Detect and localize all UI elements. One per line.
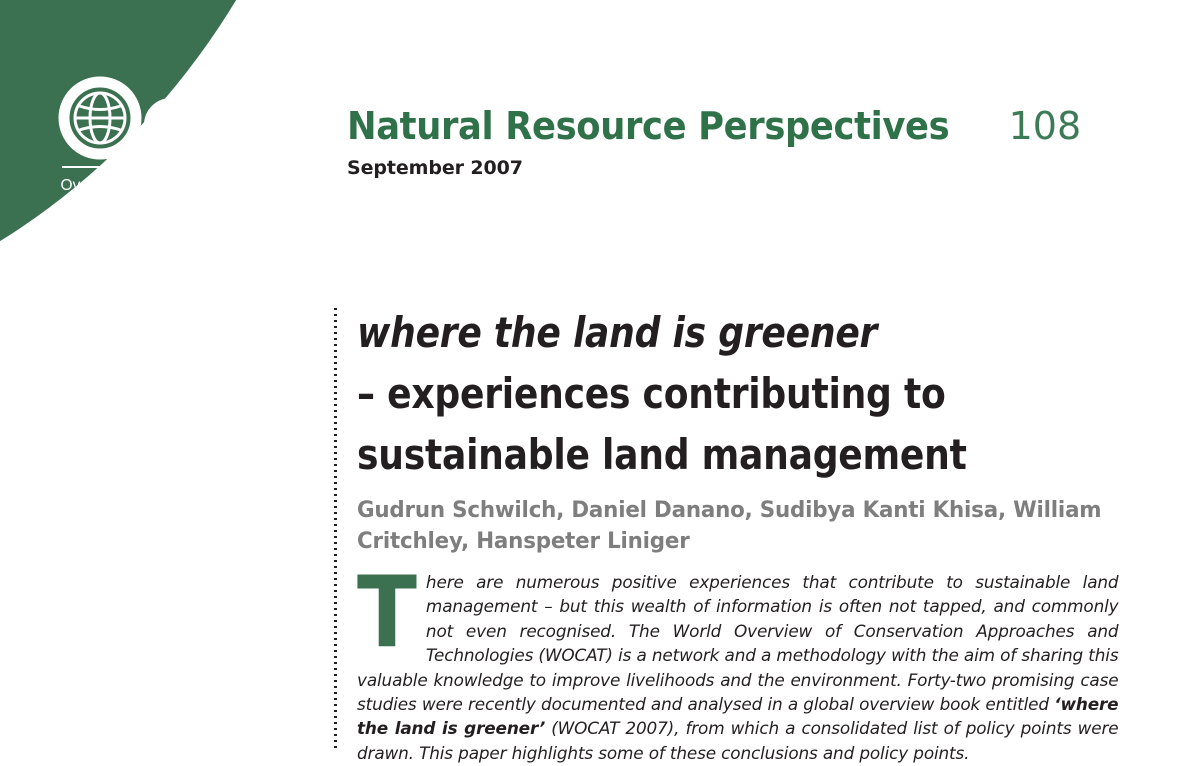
globe-icon	[58, 76, 142, 160]
logo-caption-line-1: Overseas Development	[55, 176, 230, 196]
letter-i-stem	[217, 107, 228, 152]
paper-title-line-1: where the land is greener	[357, 302, 1135, 363]
author-list: Gudrun Schwilch, Daniel Danano, Sudibya …	[357, 495, 1135, 557]
abstract-text-part-1: here are numerous positive experiences t…	[357, 573, 1118, 715]
letter-d-stem	[198, 82, 209, 152]
publication-date: September 2007	[347, 157, 1147, 179]
odi-logo: Overseas Development Institute	[55, 74, 230, 216]
letter-i-dot	[217, 88, 228, 99]
logo-caption: Overseas Development Institute	[55, 176, 230, 216]
odi-letters-di	[144, 74, 228, 160]
drop-cap-letter: T	[357, 575, 417, 651]
article-block: where the land is greener – experiences …	[357, 302, 1137, 766]
letter-d-bowl	[144, 98, 198, 152]
paper-title: where the land is greener – experiences …	[357, 302, 1135, 485]
issue-number: 108	[1009, 104, 1082, 148]
odi-wordmark	[55, 74, 230, 160]
paper-title-line-2: – experiences contributing to	[357, 363, 1135, 424]
logo-divider-rule	[62, 166, 224, 168]
abstract-paragraph: There are numerous positive experiences …	[357, 571, 1118, 766]
dotted-vertical-rule	[334, 308, 337, 751]
logo-caption-line-2: Institute	[55, 196, 230, 216]
series-title: Natural Resource Perspectives	[347, 104, 949, 148]
series-header: Natural Resource Perspectives 108 Septem…	[347, 104, 1147, 179]
series-title-row: Natural Resource Perspectives 108	[347, 104, 1147, 148]
paper-title-line-3: sustainable land management	[357, 424, 1135, 485]
